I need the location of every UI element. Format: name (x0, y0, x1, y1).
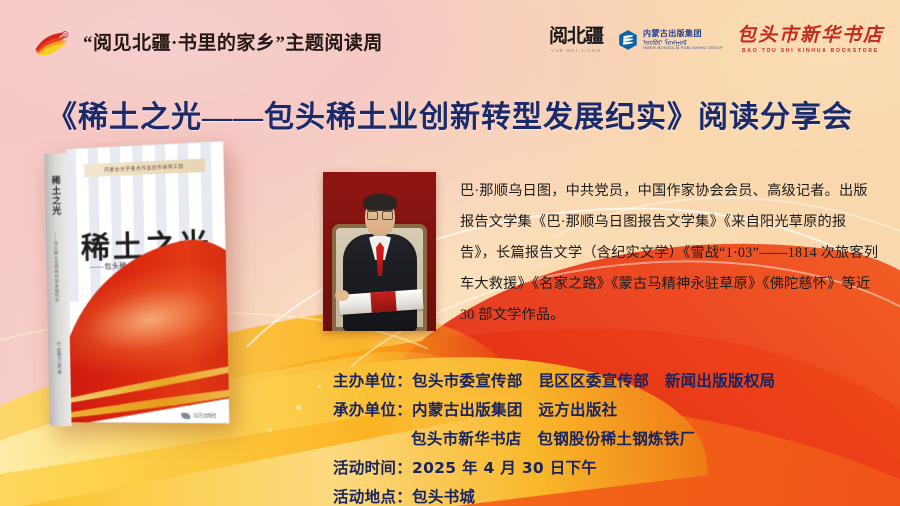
background-spark (268, 428, 272, 432)
background-spark (318, 385, 321, 388)
book-front-face: 内蒙古文学重点作品创作扶持工程 稀土之光 ——包头稀土业创新转型发展纪实 巴·那… (66, 141, 230, 423)
author-biography: 巴·那顺乌日图，中共党员，中国作家协会会员、高级记者。出版报告文学集《巴·那顺乌… (460, 176, 880, 331)
baotou-xinhua-bookstore-logo: 包头市新华书店 BAO TOU SHI XINHUA BOOKSTORE (737, 26, 884, 54)
yue-bei-jiang-logo: 阅北疆 YUE BEI JIANG (549, 27, 603, 53)
organizer-label: 承办单位： (333, 401, 412, 419)
place-value: 包头书城 (412, 488, 475, 506)
organizer-value: 内蒙古出版集团 远方出版社 (412, 401, 617, 419)
xinhua-logo-cn: 包头市新华书店 (737, 26, 884, 45)
author-portrait (323, 172, 436, 331)
host-label: 主办单位： (333, 372, 412, 390)
publisher-mark-icon (181, 413, 191, 419)
event-details: 主办单位：包头市委宣传部 昆区区委宣传部 新闻出版版权局 承办单位：内蒙古出版集… (333, 367, 893, 506)
xinhua-logo-en: BAO TOU SHI XINHUA BOOKSTORE (742, 48, 879, 54)
header: 阅 “阅见北疆·书里的家乡”主题阅读周 阅北疆 YUE BEI JIANG 内蒙… (0, 28, 900, 68)
place-row: 活动地点：包头书城 (333, 483, 893, 506)
book-publisher-name: 远方出版社 (193, 413, 216, 419)
yue-bei-jiang-logo-cn: 阅北疆 (549, 27, 603, 46)
book-publisher: 远方出版社 (181, 413, 217, 419)
host-value: 包头市委宣传部 昆区区委宣传部 新闻出版版权局 (412, 372, 775, 390)
host-row: 主办单位：包头市委宣传部 昆区区委宣传部 新闻出版版权局 (333, 367, 893, 396)
organizer-value-2: 包头市新华书店 包钢股份稀土钢炼铁厂 (411, 430, 695, 448)
publishing-group-logo-cn: 内蒙古出版集团 (643, 29, 723, 38)
time-value: 2025 年 4 月 30 日下午 (412, 459, 597, 477)
time-label: 活动时间： (333, 459, 412, 477)
portrait-hand (335, 290, 349, 301)
poster-canvas: 阅 “阅见北疆·书里的家乡”主题阅读周 阅北疆 YUE BEI JIANG 内蒙… (0, 0, 900, 506)
red-flag-icon: 阅 (33, 30, 73, 58)
publishing-group-mark-icon (617, 29, 639, 51)
portrait-hair (363, 194, 397, 211)
book-spine-author: 巴·那顺乌日图 著 (56, 342, 63, 374)
page-title: 《稀土之光——包头稀土业创新转型发展纪实》阅读分享会 (0, 92, 900, 136)
book-cover: 稀土之光 ——包头稀土业创新转型发展纪实 巴·那顺乌日图 著 内蒙古文学重点作品… (44, 141, 229, 423)
publishing-group-logo-en: INNER MONGOLIA PUBLISHING GROUP (643, 47, 723, 51)
background-spark (296, 405, 301, 410)
time-row: 活动时间：2025 年 4 月 30 日下午 (333, 454, 893, 483)
reading-week-title: “阅见北疆·书里的家乡”主题阅读周 (83, 28, 383, 55)
book-spine-subtitle: ——包头稀土业创新转型发展纪实 (53, 232, 60, 303)
sponsor-logo-group: 阅北疆 YUE BEI JIANG 内蒙古出版集团 ᠦᠪᠦᠷ ᠮᠣᠩᠭᠣᠯ IN… (549, 26, 884, 54)
svg-text:阅: 阅 (63, 32, 67, 37)
yue-bei-jiang-logo-en: YUE BEI JIANG (551, 48, 601, 53)
inner-mongolia-publishing-group-logo: 内蒙古出版集团 ᠦᠪᠦᠷ ᠮᠣᠩᠭᠣᠯ INNER MONGOLIA PUBLI… (617, 29, 723, 51)
organizer-row-2: 包头市新华书店 包钢股份稀土钢炼铁厂 (333, 425, 893, 454)
place-label: 活动地点： (333, 488, 412, 506)
organizer-row: 承办单位：内蒙古出版集团 远方出版社 (333, 396, 893, 425)
book-award-band-text: 内蒙古文学重点作品创作扶持工程 (104, 163, 184, 173)
portrait-glasses (367, 210, 393, 217)
book-spine-title: 稀土之光 (50, 175, 64, 216)
